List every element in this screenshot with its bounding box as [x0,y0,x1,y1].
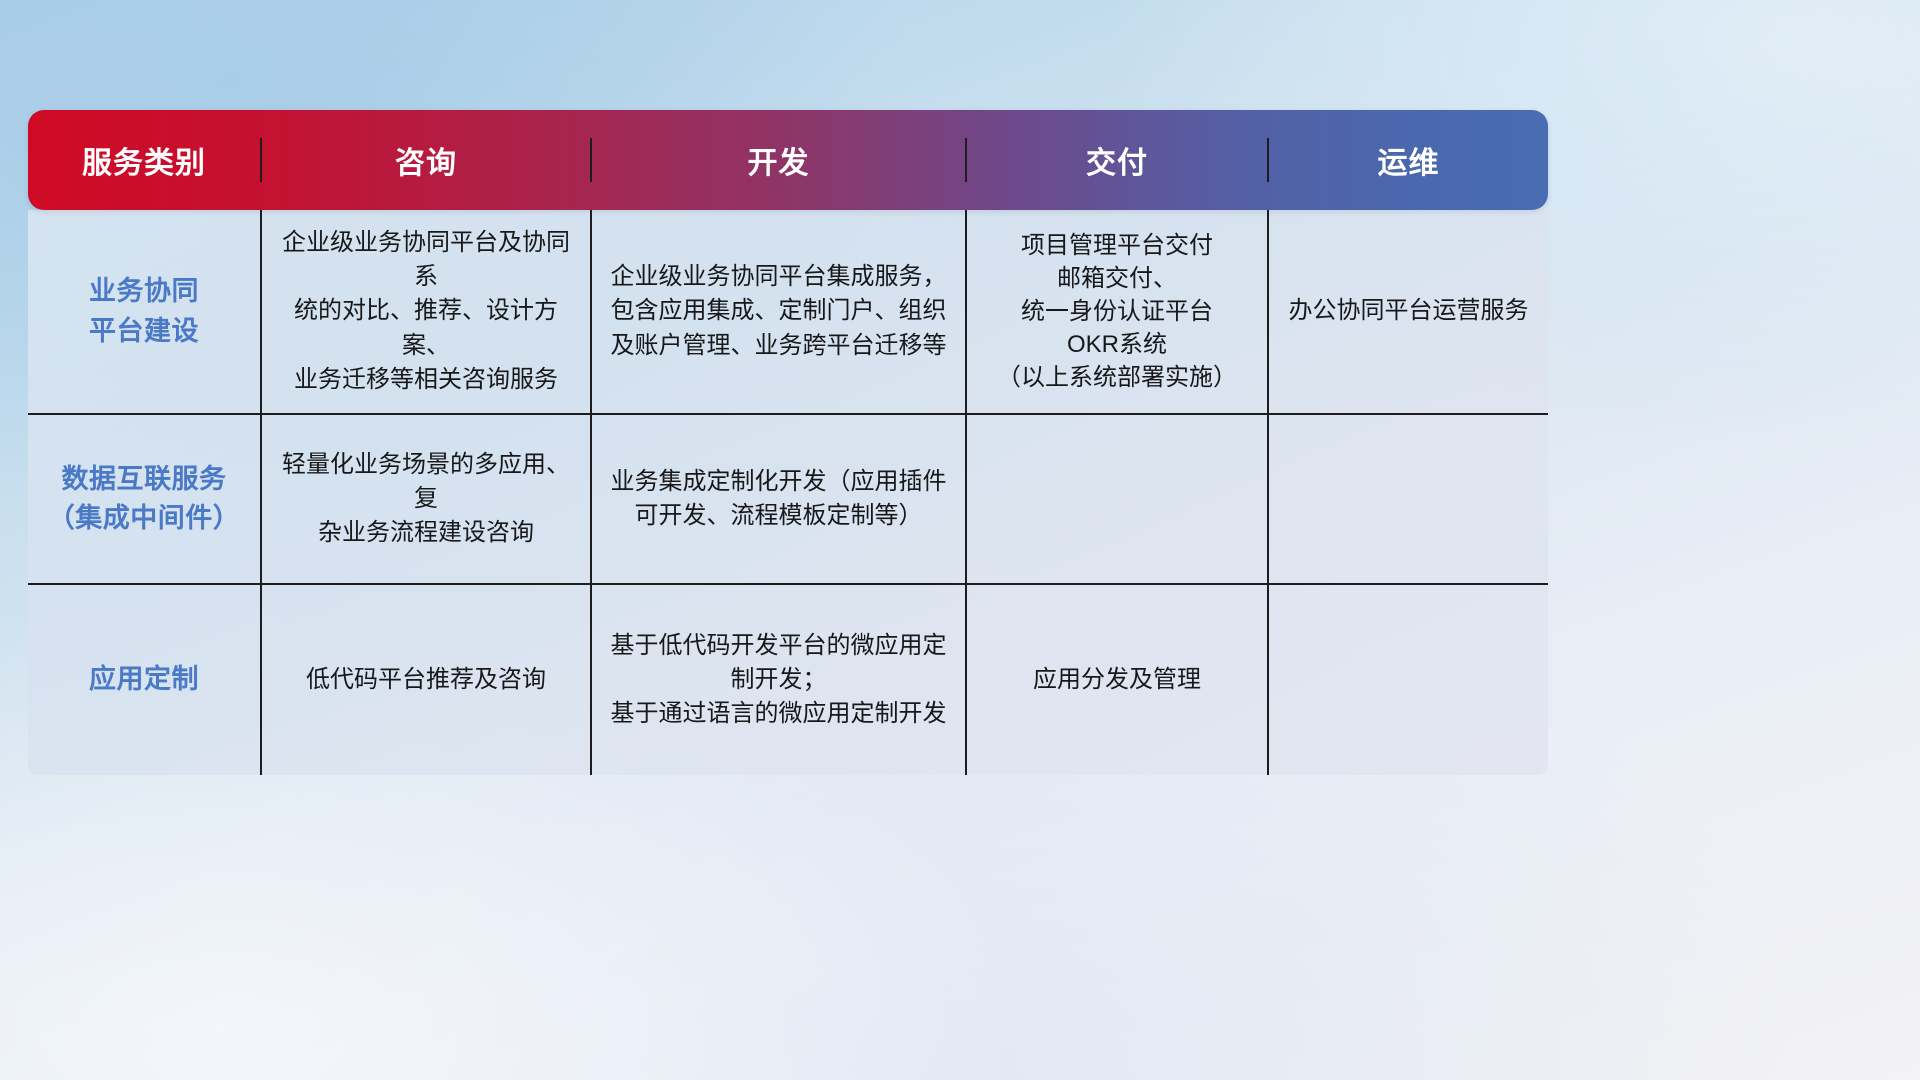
cell-operations [1267,415,1548,583]
cell-consulting: 企业级业务协同平台及协同系 统的对比、推荐、设计方案、 业务迁移等相关咨询服务 [260,210,590,413]
table-row: 应用定制 低代码平台推荐及咨询 基于低代码开发平台的微应用定 制开发； 基于通过… [28,585,1548,775]
cell-operations: 办公协同平台运营服务 [1267,210,1548,413]
column-header-category: 服务类别 [28,138,260,182]
table-header-row: 服务类别 咨询 开发 交付 运维 [28,110,1548,210]
cell-text: 办公协同平台运营服务 [1289,294,1529,328]
table-body: 业务协同 平台建设 企业级业务协同平台及协同系 统的对比、推荐、设计方案、 业务… [28,210,1548,775]
cell-text: 企业级业务协同平台及协同系 统的对比、推荐、设计方案、 业务迁移等相关咨询服务 [272,226,580,396]
cell-delivery [965,415,1267,583]
cell-text: 基于低代码开发平台的微应用定 制开发； 基于通过语言的微应用定制开发 [611,629,947,731]
cell-consulting: 轻量化业务场景的多应用、复 杂业务流程建设咨询 [260,415,590,583]
cell-development: 基于低代码开发平台的微应用定 制开发； 基于通过语言的微应用定制开发 [590,585,965,775]
cell-text: 业务集成定制化开发（应用插件 可开发、流程模板定制等） [611,465,947,533]
column-header-development: 开发 [590,138,965,182]
service-matrix-table: 服务类别 咨询 开发 交付 运维 业务协同 平台建设 企业级业务协同平台及协同系… [28,110,1548,775]
cell-text: 轻量化业务场景的多应用、复 杂业务流程建设咨询 [272,448,580,550]
table-row: 数据互联服务 （集成中间件） 轻量化业务场景的多应用、复 杂业务流程建设咨询 业… [28,415,1548,585]
category-label: 业务协同 平台建设 [89,272,199,350]
cell-operations [1267,585,1548,775]
cell-text: 企业级业务协同平台集成服务， 包含应用集成、定制门户、组织 及账户管理、业务跨平… [611,260,947,362]
category-label: 应用定制 [89,660,199,699]
column-header-delivery: 交付 [965,138,1267,182]
cell-delivery: 项目管理平台交付 邮箱交付、 统一身份认证平台 OKR系统 （以上系统部署实施） [965,210,1267,413]
cell-text: 应用分发及管理 [1033,663,1201,697]
category-label: 数据互联服务 （集成中间件） [48,460,241,538]
cell-development: 业务集成定制化开发（应用插件 可开发、流程模板定制等） [590,415,965,583]
cell-text: 项目管理平台交付 邮箱交付、 统一身份认证平台 OKR系统 （以上系统部署实施） [997,229,1237,395]
cell-category: 业务协同 平台建设 [28,210,260,413]
cell-consulting: 低代码平台推荐及咨询 [260,585,590,775]
cell-text: 低代码平台推荐及咨询 [306,663,546,697]
column-header-operations: 运维 [1267,138,1548,182]
table-row: 业务协同 平台建设 企业级业务协同平台及协同系 统的对比、推荐、设计方案、 业务… [28,210,1548,415]
cell-category: 应用定制 [28,585,260,775]
column-header-consulting: 咨询 [260,138,590,182]
cell-delivery: 应用分发及管理 [965,585,1267,775]
cell-category: 数据互联服务 （集成中间件） [28,415,260,583]
cell-development: 企业级业务协同平台集成服务， 包含应用集成、定制门户、组织 及账户管理、业务跨平… [590,210,965,413]
